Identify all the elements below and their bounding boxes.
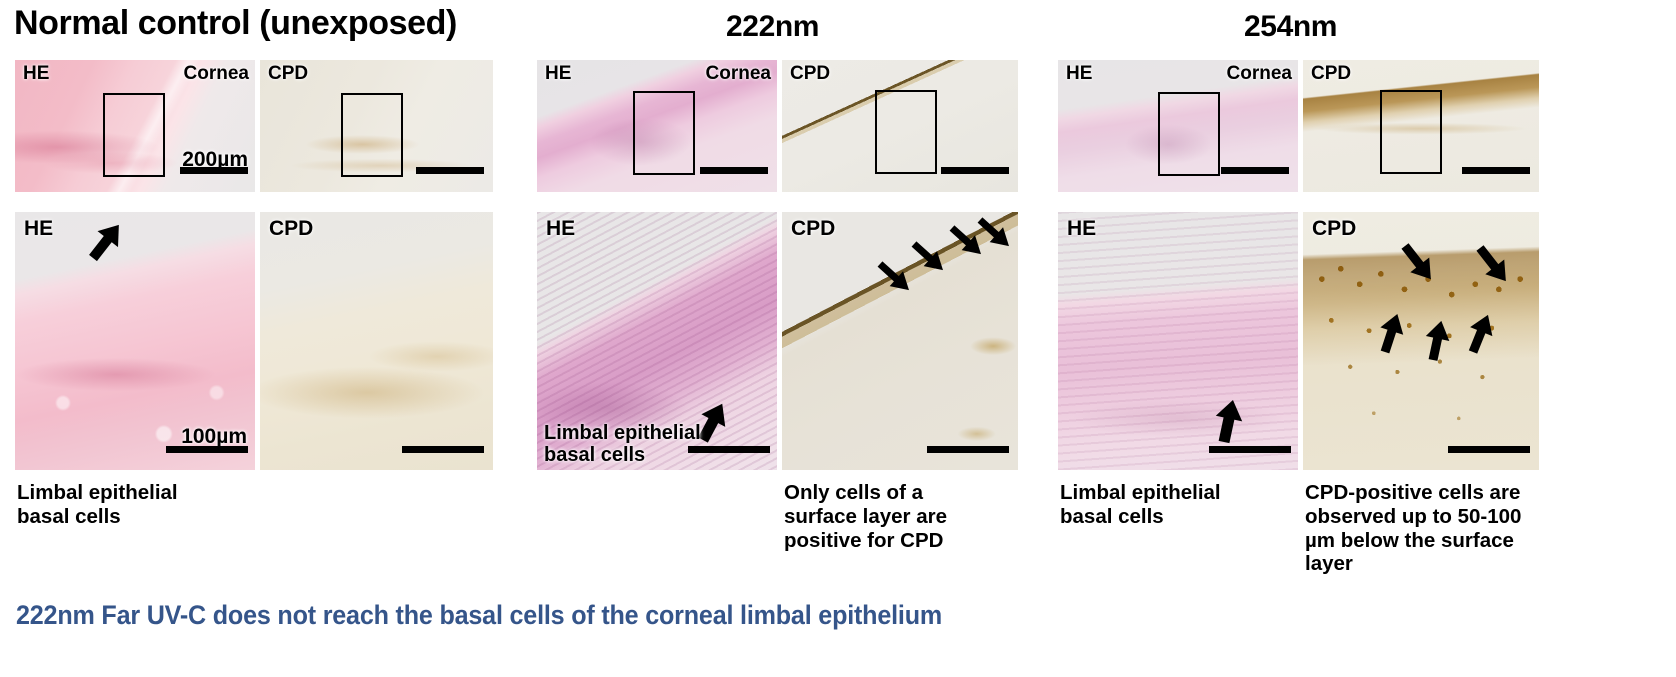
arrow-icon: [978, 216, 1018, 260]
panel-label-stain: CPD: [1311, 63, 1351, 85]
panel-label-stain: HE: [546, 217, 575, 241]
panel-222nm-low-cpd[interactable]: CPD: [782, 60, 1018, 192]
panel-254nm-low-he[interactable]: HE Cornea: [1058, 60, 1298, 192]
region-of-interest-rectangle: [341, 93, 403, 177]
panel-label-region: Cornea: [1227, 63, 1292, 85]
scale-bar: [1221, 167, 1289, 174]
scale-bar: [1448, 446, 1530, 453]
panel-label-stain: HE: [24, 217, 53, 241]
figure-root: Normal control (unexposed) 222nm 254nm H…: [0, 0, 1676, 677]
panel-222nm-high-cpd[interactable]: CPD: [782, 212, 1018, 470]
arrow-icon: [1403, 242, 1451, 290]
caption-control-he: Limbal epithelial basal cells: [17, 481, 253, 529]
panel-label-region: Cornea: [184, 63, 249, 85]
panel-label-stain: CPD: [1312, 217, 1356, 241]
panel-254nm-low-cpd[interactable]: CPD: [1303, 60, 1539, 192]
scale-bar: [416, 167, 484, 174]
panel-label-stain: HE: [1066, 63, 1092, 85]
scale-bar: [700, 167, 768, 174]
panel-label-stain: CPD: [790, 63, 830, 85]
arrow-icon: [1451, 308, 1499, 356]
panel-222nm-high-he[interactable]: HE Limbal epithelial basal cells: [537, 212, 777, 470]
panel-label-stain: CPD: [269, 217, 313, 241]
region-of-interest-rectangle: [1380, 90, 1442, 174]
panel-label-region: Cornea: [706, 63, 771, 85]
scale-bar: [180, 167, 248, 174]
caption-254nm-he: Limbal epithelial basal cells: [1060, 481, 1296, 529]
panel-222nm-low-he[interactable]: HE Cornea: [537, 60, 777, 192]
scale-bar: [1462, 167, 1530, 174]
group-title-254nm: 254nm: [1244, 10, 1337, 44]
scale-bar: [166, 446, 248, 453]
panel-label-stain: CPD: [791, 217, 835, 241]
arrow-icon: [1478, 244, 1526, 292]
inline-note-limbal-basal-cells: Limbal epithelial basal cells: [544, 422, 701, 467]
panel-label-stain: CPD: [268, 63, 308, 85]
arrow-icon: [697, 400, 745, 448]
region-of-interest-rectangle: [875, 90, 937, 174]
region-of-interest-rectangle: [103, 93, 165, 177]
panel-control-high-cpd[interactable]: CPD: [260, 212, 493, 470]
arrow-icon: [1363, 308, 1411, 356]
panel-label-stain: HE: [1067, 217, 1096, 241]
scale-bar: [402, 446, 484, 453]
region-of-interest-rectangle: [1158, 92, 1220, 176]
panel-control-low-he[interactable]: HE Cornea 200µm: [15, 60, 255, 192]
panel-control-high-he[interactable]: HE 100µm: [15, 212, 255, 470]
scale-bar: [927, 446, 1009, 453]
panel-254nm-high-he[interactable]: HE: [1058, 212, 1298, 470]
group-title-222nm: 222nm: [726, 10, 819, 44]
summary-statement: 222nm Far UV-C does not reach the basal …: [16, 600, 942, 631]
group-title-control: Normal control (unexposed): [14, 4, 457, 43]
region-of-interest-rectangle: [633, 91, 695, 175]
caption-222nm-cpd: Only cells of a surface layer are positi…: [784, 481, 1024, 552]
panel-label-stain: HE: [545, 63, 571, 85]
caption-254nm-cpd: CPD-positive cells are observed up to 50…: [1305, 481, 1605, 576]
arrow-icon: [1216, 400, 1264, 448]
panel-control-low-cpd[interactable]: CPD: [260, 60, 493, 192]
scale-bar: [941, 167, 1009, 174]
panel-254nm-high-cpd[interactable]: CPD: [1303, 212, 1539, 470]
panel-label-stain: HE: [23, 63, 49, 85]
